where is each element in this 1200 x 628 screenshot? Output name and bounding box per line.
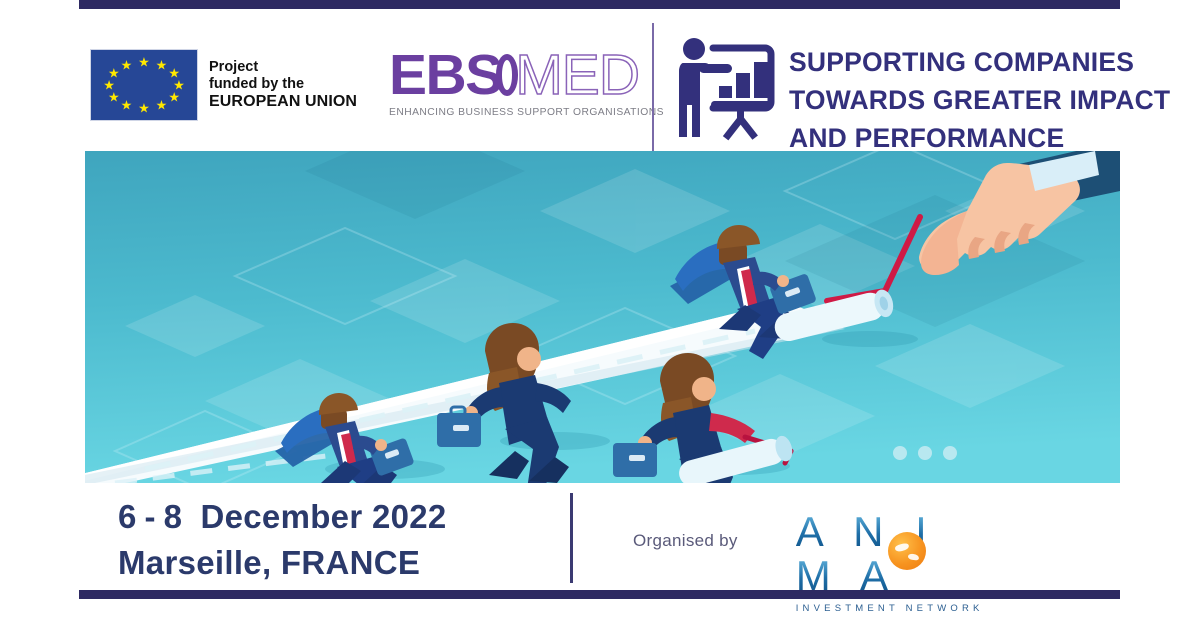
hero-illustration xyxy=(85,151,1120,483)
header-divider xyxy=(652,23,654,157)
event-location: Marseille, FRANCE xyxy=(118,540,447,586)
eu-funding-line1: Project xyxy=(209,59,357,76)
top-navy-rule xyxy=(79,0,1120,9)
footer-divider xyxy=(570,493,573,583)
mission-statement: SUPPORTING COMPANIES TOWARDS GREATER IMP… xyxy=(675,37,1170,157)
eu-funding-text: Project funded by the EUROPEAN UNION xyxy=(209,59,357,112)
ebsomed-wordmark: EBS MED xyxy=(389,47,639,103)
ebsomed-name-bold: EBS xyxy=(389,47,502,103)
mission-lines: SUPPORTING COMPANIES TOWARDS GREATER IMP… xyxy=(789,37,1170,157)
bottom-navy-rule xyxy=(79,590,1120,599)
organised-by-label: Organised by xyxy=(633,531,738,551)
banner-header: ★ ★ ★ ★ ★ ★ ★ ★ ★ ★ ★ ★ Project funded b… xyxy=(79,9,1120,151)
banner-footer: 6 - 8 December 2022 Marseille, FRANCE Or… xyxy=(85,483,1120,590)
mission-line-2: TOWARDS GREATER IMPACT xyxy=(789,81,1170,119)
mission-line-1: SUPPORTING COMPANIES xyxy=(789,43,1170,81)
ebsomed-globe-icon xyxy=(496,54,519,96)
ebsomed-tagline: ENHANCING BUSINESS SUPPORT ORGANISATIONS xyxy=(389,107,639,118)
anima-logo: A N I M A INVESTMENT NETWORK xyxy=(796,510,992,572)
european-union-flag-icon: ★ ★ ★ ★ ★ ★ ★ ★ ★ ★ ★ ★ xyxy=(90,49,198,121)
event-date-range: 6 - 8 xyxy=(118,498,182,535)
event-banner: ★ ★ ★ ★ ★ ★ ★ ★ ★ ★ ★ ★ Project funded b… xyxy=(0,0,1200,628)
presenter-bar-chart-icon xyxy=(675,37,775,143)
anima-globe-icon xyxy=(888,532,926,570)
ebsomed-logo: EBS MED ENHANCING BUSINESS SUPPORT ORGAN… xyxy=(389,47,639,118)
eu-funding-line2: funded by the xyxy=(209,76,357,93)
carousel-dots xyxy=(893,446,957,460)
ebsomed-name-light: MED xyxy=(515,47,639,103)
eu-funding-line3: EUROPEAN UNION xyxy=(209,93,357,112)
event-date: 6 - 8 December 2022 xyxy=(118,494,447,540)
event-month-year: December 2022 xyxy=(200,498,446,535)
organiser-block: Organised by A N I M A INVESTMENT NETWOR… xyxy=(633,510,992,572)
eu-funding-lockup: ★ ★ ★ ★ ★ ★ ★ ★ ★ ★ ★ ★ Project funded b… xyxy=(90,49,357,121)
event-details: 6 - 8 December 2022 Marseille, FRANCE xyxy=(118,494,447,586)
anima-subtitle: INVESTMENT NETWORK xyxy=(796,603,984,614)
